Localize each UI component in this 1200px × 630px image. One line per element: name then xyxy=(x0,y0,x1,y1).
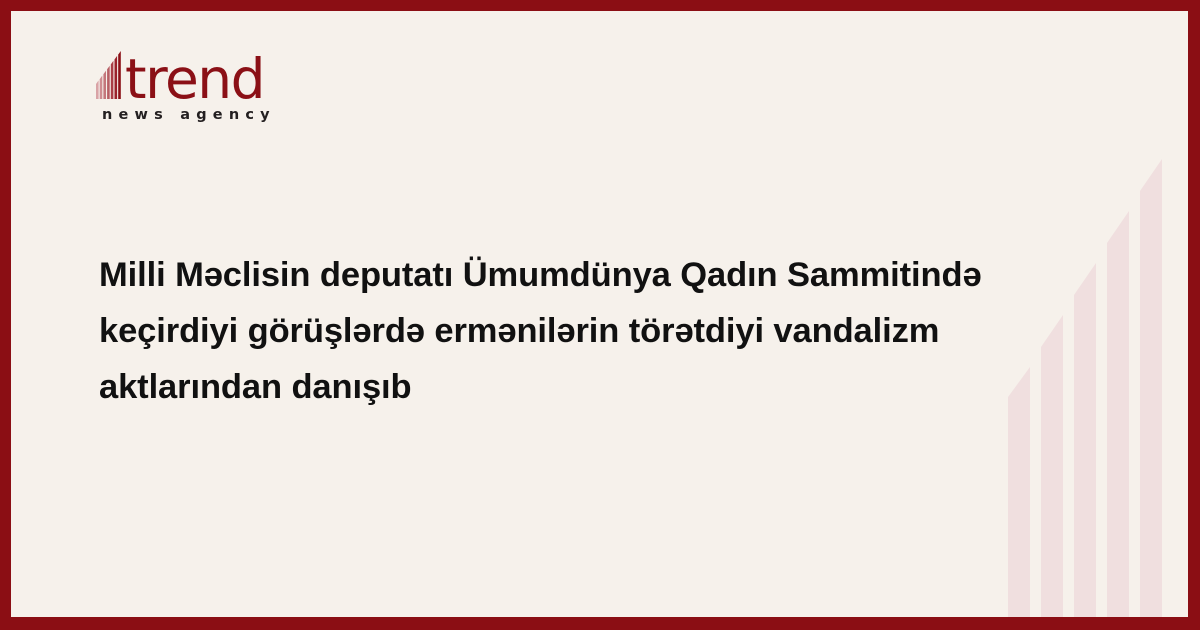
card-canvas: trend news agency Milli Məclisin deputat… xyxy=(11,11,1188,617)
ascending-bars-icon xyxy=(96,51,124,99)
headline-line-3: aktlarından danışıb xyxy=(99,359,1029,415)
headline-line-1: Milli Məclisin deputatı Ümumdünya Qadın … xyxy=(99,247,1029,303)
logo-tagline: news agency xyxy=(102,107,426,123)
social-share-card: trend news agency Milli Məclisin deputat… xyxy=(0,0,1200,630)
headline-line-2: keçirdiyi görüşlərdə ermənilərin törətdi… xyxy=(99,303,1029,359)
logo-row: trend xyxy=(96,44,426,100)
trend-news-agency-logo[interactable]: trend news agency xyxy=(96,44,426,123)
headline: Milli Məclisin deputatı Ümumdünya Qadın … xyxy=(99,247,1029,415)
logo-wordmark: trend xyxy=(125,55,264,103)
